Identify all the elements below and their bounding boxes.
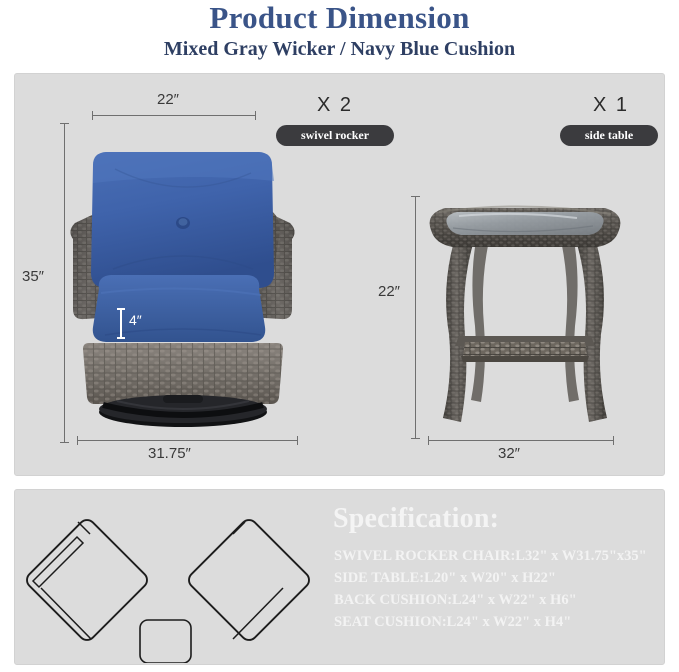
- products-panel: 22″ 35″ 4″ 31.75″ X 2 swivel rocker: [14, 73, 665, 476]
- header: Product Dimension Mixed Gray Wicker / Na…: [0, 0, 679, 70]
- swivel-rocker-image: [55, 129, 310, 429]
- dimension-label-back-cushion-width: 22″: [157, 91, 179, 108]
- dimension-line-back-cushion-width: [92, 115, 256, 116]
- specification-list: SWIVEL ROCKER CHAIR:L32" x W31.75"x35" S…: [334, 545, 647, 633]
- page-subtitle: Mixed Gray Wicker / Navy Blue Cushion: [0, 36, 679, 62]
- dimension-label-chair-height: 35″: [22, 268, 44, 285]
- small-cushion-outline: [140, 620, 191, 663]
- spec-line-seat-cushion: SEAT CUSHION:L24" x W22" x H4": [334, 611, 647, 633]
- dimension-label-chair-width: 31.75″: [148, 445, 191, 462]
- dimension-line-chair-height: [64, 123, 65, 443]
- cushion-diagrams: [21, 498, 321, 663]
- side-table-count: X 1: [571, 94, 651, 117]
- spec-line-swivel-rocker: SWIVEL ROCKER CHAIR:L32" x W31.75"x35": [334, 545, 647, 567]
- dimension-label-table-height: 22″: [378, 283, 400, 300]
- spec-line-side-table: SIDE TABLE:L20" x W20" x H22": [334, 567, 647, 589]
- product-dimension-infographic: Product Dimension Mixed Gray Wicker / Na…: [0, 0, 679, 672]
- swivel-rocker-count: X 2: [295, 94, 375, 117]
- dimension-label-table-width: 32″: [498, 445, 520, 462]
- dimension-label-seat-thickness: 4″: [129, 312, 142, 328]
- spec-line-back-cushion: BACK CUSHION:L24" x W22" x H6": [334, 589, 647, 611]
- specification-title: Specification:: [333, 503, 499, 535]
- swivel-rocker-badge: swivel rocker: [276, 125, 394, 146]
- page-title: Product Dimension: [0, 0, 679, 36]
- dimension-line-chair-width: [77, 440, 298, 441]
- dimension-line-seat-thickness: [120, 308, 122, 339]
- dimension-line-table-width: [428, 440, 614, 441]
- dimension-line-table-height: [415, 196, 416, 439]
- seat-cushion-inner-lines: [233, 522, 283, 639]
- specification-panel: Specification: SWIVEL ROCKER CHAIR:L32" …: [14, 489, 665, 665]
- seat-cushion-outline: [186, 517, 313, 644]
- side-table-image: [415, 190, 635, 440]
- side-table-badge: side table: [560, 125, 658, 146]
